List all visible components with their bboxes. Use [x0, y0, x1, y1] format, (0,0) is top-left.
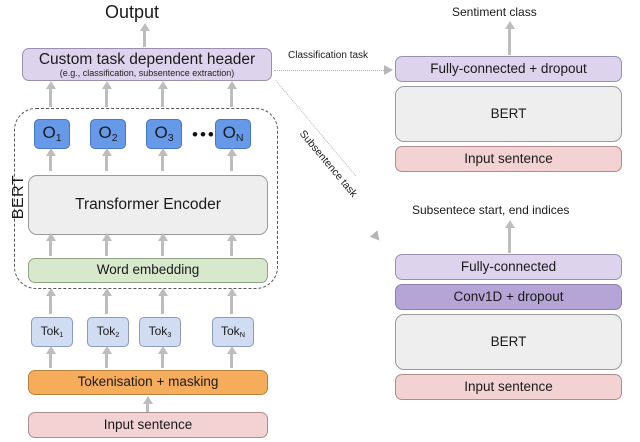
word-embedding-label: Word embedding [97, 263, 200, 278]
custom-task-header-title: Custom task dependent header [39, 51, 255, 68]
right-bottom-layer-label-2: BERT [491, 335, 527, 350]
output-ellipsis: ••• [192, 125, 216, 145]
arrow-embed-to-encoder-1 [49, 240, 52, 256]
classification-task-label: Classification task [288, 50, 368, 61]
output-token-label-n: ON [223, 124, 244, 145]
classification-task-arrowhead [384, 65, 393, 75]
arrow-tokenise-to-tokn [230, 353, 233, 368]
arrow-tokenise-to-tok3 [161, 353, 164, 368]
custom-task-header-box[interactable]: Custom task dependent header (e.g., clas… [22, 48, 272, 81]
arrow-tokenise-to-tok2 [105, 353, 108, 368]
right-top-layer-input-sentence[interactable]: Input sentence [395, 146, 622, 172]
subsentence-task-arrowhead [370, 230, 383, 243]
arrow-tok1-to-bert [49, 295, 52, 314]
arrow-tok2-to-bert [105, 295, 108, 314]
word-embedding-box[interactable]: Word embedding [28, 258, 268, 283]
token-box-n[interactable]: TokN [212, 317, 254, 347]
output-token-box-n[interactable]: ON [215, 119, 251, 149]
arrow-fc-to-sentiment [508, 28, 511, 55]
right-top-layer-label-0: Fully-connected + dropout [430, 62, 586, 77]
output-token-label-3: O3 [154, 124, 173, 145]
subsentence-task-connector [275, 80, 356, 176]
input-sentence-box-left[interactable]: Input sentence [28, 412, 268, 438]
arrow-header-to-output [143, 30, 146, 47]
arrow-tokn-to-bert [230, 295, 233, 314]
arrow-encoder-to-o2 [105, 155, 108, 171]
output-token-label-1: O1 [42, 124, 61, 145]
arrow-embed-to-encoder-2 [105, 240, 108, 256]
right-top-layer-label-1: BERT [491, 107, 527, 122]
arrow-o3-to-header [161, 88, 164, 107]
arrow-tokenise-to-tok1 [49, 353, 52, 368]
bert-group-label: BERT [10, 167, 28, 227]
right-top-layer-bert[interactable]: BERT [395, 86, 622, 142]
token-box-1[interactable]: Tok1 [31, 317, 73, 347]
arrow-embed-to-encoder-3 [161, 240, 164, 256]
arrow-fc-to-indices [508, 227, 511, 253]
right-bottom-layer-bert[interactable]: BERT [395, 314, 622, 370]
arrow-encoder-to-o3 [161, 155, 164, 171]
right-top-layer-label-2: Input sentence [464, 152, 553, 167]
token-label-2: Tok2 [97, 325, 120, 339]
token-label-n: TokN [221, 325, 245, 339]
transformer-encoder-label: Transformer Encoder [75, 196, 221, 213]
token-label-3: Tok3 [149, 325, 172, 339]
token-label-1: Tok1 [41, 325, 64, 339]
right-top-layer-fully-connected[interactable]: Fully-connected + dropout [395, 56, 622, 82]
token-box-3[interactable]: Tok3 [139, 317, 181, 347]
arrow-o2-to-header [105, 88, 108, 107]
input-sentence-label-left: Input sentence [104, 418, 193, 433]
arrow-o1-to-header [49, 88, 52, 107]
right-bottom-layer-label-0: Fully-connected [461, 260, 556, 275]
tokenisation-label: Tokenisation + masking [78, 375, 219, 390]
subsentence-task-label: Subsentence task [297, 128, 360, 200]
right-bottom-layer-input-sentence[interactable]: Input sentence [395, 374, 622, 400]
sentiment-class-label: Sentiment class [452, 5, 537, 19]
custom-task-header-subtitle: (e.g., classification, subsentence extra… [60, 69, 235, 79]
classification-task-connector [274, 70, 384, 71]
tokenisation-box[interactable]: Tokenisation + masking [28, 370, 268, 395]
arrow-encoder-to-o1 [49, 155, 52, 171]
diagram-canvas: Output Custom task dependent header (e.g… [0, 0, 640, 442]
token-box-2[interactable]: Tok2 [87, 317, 129, 347]
arrow-tok3-to-bert [161, 295, 164, 314]
transformer-encoder-box[interactable]: Transformer Encoder [28, 175, 268, 235]
arrow-on-to-header [230, 88, 233, 107]
subsentence-indices-label: Subsentece start, end indices [412, 203, 569, 217]
right-bottom-layer-label-1: Conv1D + dropout [454, 290, 564, 305]
right-bottom-layer-conv1d[interactable]: Conv1D + dropout [395, 284, 622, 310]
output-token-box-1[interactable]: O1 [34, 119, 70, 149]
right-bottom-layer-label-3: Input sentence [464, 380, 553, 395]
arrow-encoder-to-on [230, 155, 233, 171]
output-token-box-2[interactable]: O2 [90, 119, 126, 149]
output-token-label-2: O2 [98, 124, 117, 145]
output-token-box-3[interactable]: O3 [146, 119, 182, 149]
right-bottom-layer-fully-connected[interactable]: Fully-connected [395, 254, 622, 280]
arrow-embed-to-encoder-n [230, 240, 233, 256]
output-label: Output [105, 2, 159, 23]
